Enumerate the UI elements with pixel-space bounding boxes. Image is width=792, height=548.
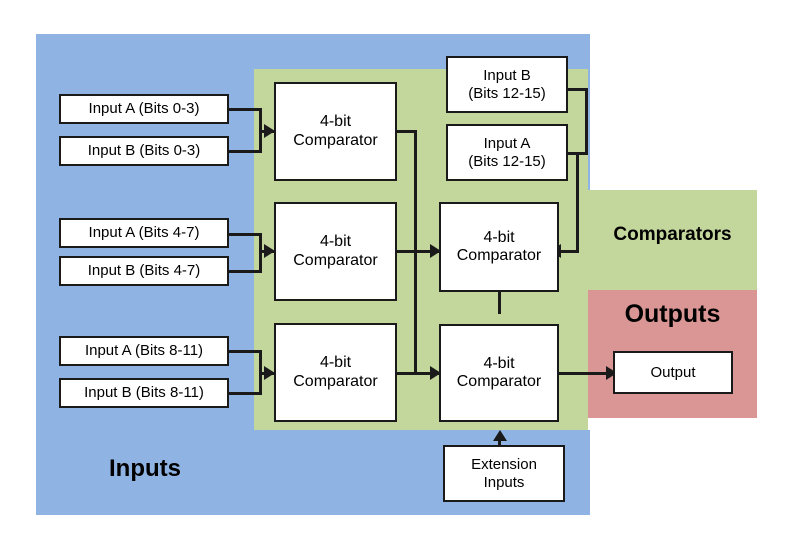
panel-label-outputs: Outputs xyxy=(588,300,757,329)
comparator-box-5[interactable]: 4-bit Comparator xyxy=(439,324,559,422)
wire-to-comp4-h xyxy=(559,250,579,253)
arrow-extension-into-comparator-5 xyxy=(493,430,507,441)
wire-in-a3 xyxy=(229,350,262,353)
input-box-label-line2: (Bits 12-15) xyxy=(448,85,566,102)
wire-comp4-to-comp5 xyxy=(498,292,501,314)
wire-comp5-to-output xyxy=(559,372,611,375)
extension-inputs-label-line1: Extension xyxy=(445,456,563,473)
comparator-box-2[interactable]: 4-bit Comparator xyxy=(274,202,397,301)
input-box-label: Input A (Bits 8-11) xyxy=(61,342,227,359)
comparator-box-4[interactable]: 4-bit Comparator xyxy=(439,202,559,292)
input-box-a-bits-8-11[interactable]: Input A (Bits 8-11) xyxy=(59,336,229,366)
wire-in-b2 xyxy=(229,270,262,273)
panel-label-inputs: Inputs xyxy=(36,455,254,483)
wire-to-comp4-v xyxy=(576,152,579,250)
input-box-label: Input A (Bits 4-7) xyxy=(61,224,227,241)
comparator-label-line2: Comparator xyxy=(441,247,557,265)
input-box-b-bits-8-11[interactable]: Input B (Bits 8-11) xyxy=(59,378,229,408)
comparator-label-line1: 4-bit xyxy=(276,233,395,251)
comparator-label-line2: Comparator xyxy=(441,373,557,391)
input-box-b-bits-12-15[interactable]: Input B (Bits 12-15) xyxy=(446,56,568,113)
comparator-box-1[interactable]: 4-bit Comparator xyxy=(274,82,397,181)
input-box-b-bits-0-3[interactable]: Input B (Bits 0-3) xyxy=(59,136,229,166)
diagram-canvas: Input A (Bits 0-3) Input B (Bits 0-3) In… xyxy=(0,0,792,548)
comparator-box-3[interactable]: 4-bit Comparator xyxy=(274,323,397,422)
output-label: Output xyxy=(615,364,731,381)
comparator-label-line1: 4-bit xyxy=(441,355,557,373)
wire-in-a2 xyxy=(229,233,262,236)
panel-label-comparators: Comparators xyxy=(588,224,757,246)
output-box[interactable]: Output xyxy=(613,351,733,394)
input-box-label-line1: Input B xyxy=(448,67,566,84)
comparator-label-line1: 4-bit xyxy=(441,229,557,247)
wire-join-4 xyxy=(585,88,588,155)
input-box-label-line2: (Bits 12-15) xyxy=(448,153,566,170)
comparator-label-line2: Comparator xyxy=(276,252,395,270)
input-box-label: Input B (Bits 8-11) xyxy=(61,384,227,401)
extension-inputs-label-line2: Inputs xyxy=(445,474,563,491)
comparator-label-line1: 4-bit xyxy=(276,113,395,131)
wire-in-b3 xyxy=(229,392,262,395)
input-box-a-bits-12-15[interactable]: Input A (Bits 12-15) xyxy=(446,124,568,181)
input-box-a-bits-4-7[interactable]: Input A (Bits 4-7) xyxy=(59,218,229,248)
comparator-label-line2: Comparator xyxy=(276,132,395,150)
input-box-label-line1: Input A xyxy=(448,135,566,152)
input-box-b-bits-4-7[interactable]: Input B (Bits 4-7) xyxy=(59,256,229,286)
wire-comp-bus-lower xyxy=(414,250,417,374)
input-box-label: Input A (Bits 0-3) xyxy=(61,100,227,117)
input-box-label: Input B (Bits 0-3) xyxy=(61,142,227,159)
input-box-label: Input B (Bits 4-7) xyxy=(61,262,227,279)
comparator-label-line1: 4-bit xyxy=(276,354,395,372)
extension-inputs-box[interactable]: Extension Inputs xyxy=(443,445,565,502)
wire-in-a1 xyxy=(229,108,262,111)
comparator-label-line2: Comparator xyxy=(276,373,395,391)
wire-in-b1 xyxy=(229,150,262,153)
input-box-a-bits-0-3[interactable]: Input A (Bits 0-3) xyxy=(59,94,229,124)
wire-comp1-bus xyxy=(414,130,417,252)
wire-join-2 xyxy=(259,233,262,273)
